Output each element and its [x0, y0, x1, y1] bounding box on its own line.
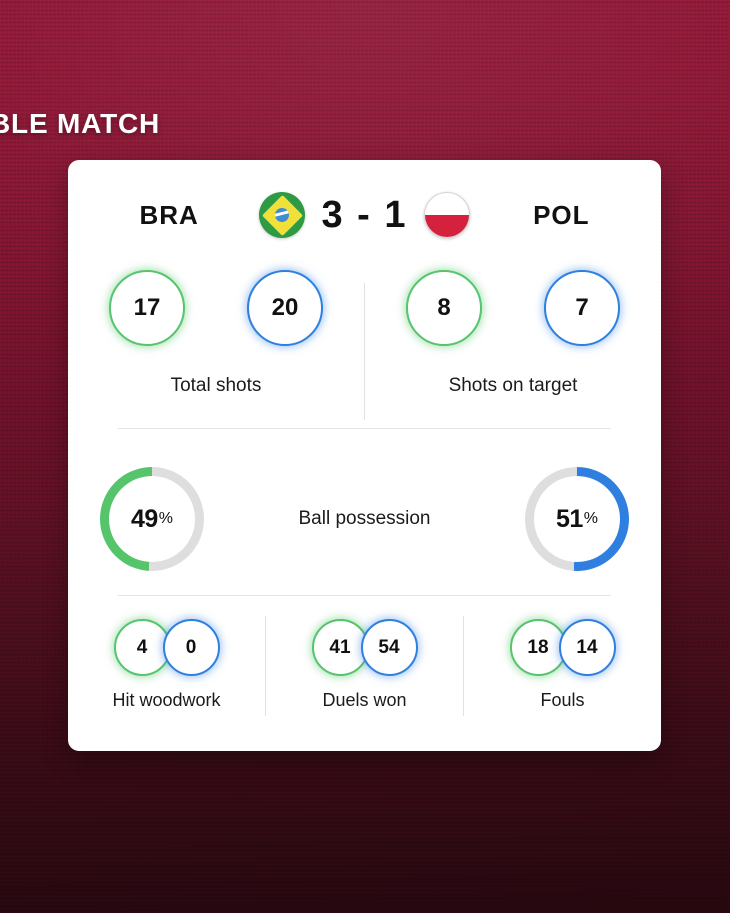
- total-shots-home-value: 17: [109, 270, 185, 346]
- total-shots-away-value: 20: [247, 270, 323, 346]
- possession-away-percent-sign: %: [584, 510, 598, 528]
- bottom-stats-row: 4 0 Hit woodwork 41 54 Duels won 18 14 F…: [68, 610, 661, 730]
- match-stats-card: BRA 3 - 1 POL 17 20 Total shots 8 7 Shot…: [68, 160, 661, 751]
- hit-woodwork-label: Hit woodwork: [112, 690, 220, 711]
- away-team-abbr: POL: [470, 200, 626, 231]
- possession-away-donut: 51 %: [525, 467, 629, 571]
- score-value: 3 - 1: [305, 194, 423, 237]
- hit-woodwork-circles: 4 0: [114, 619, 220, 676]
- shots-row: 17 20 Total shots 8 7 Shots on target: [68, 265, 661, 445]
- possession-label: Ball possession: [298, 508, 430, 530]
- possession-home-donut: 49 %: [100, 467, 204, 571]
- duels-won-circles: 41 54: [312, 619, 418, 676]
- card-divider-top: [118, 428, 611, 429]
- possession-row: 49 % Ball possession 51 %: [68, 445, 661, 593]
- poland-flag-icon: [424, 192, 470, 238]
- stat-group-shots-on-target: 8 7 Shots on target: [365, 265, 661, 445]
- scoreline: BRA 3 - 1 POL: [68, 182, 661, 248]
- home-team-abbr: BRA: [103, 200, 259, 231]
- total-shots-circles: 17 20: [109, 270, 323, 346]
- stat-group-duels-won: 41 54 Duels won: [266, 610, 463, 730]
- total-shots-label: Total shots: [171, 375, 262, 397]
- duels-won-away-value: 54: [361, 619, 418, 676]
- fouls-away-value: 14: [559, 619, 616, 676]
- possession-away-value: 51: [556, 505, 583, 534]
- fouls-circles: 18 14: [510, 619, 616, 676]
- page-headline: RABLE MATCH: [0, 108, 160, 140]
- possession-home-center: 49 %: [109, 476, 195, 562]
- fouls-label: Fouls: [540, 690, 584, 711]
- duels-won-home-value: 41: [312, 619, 369, 676]
- possession-home-value: 49: [131, 505, 158, 534]
- shots-on-target-away-value: 7: [544, 270, 620, 346]
- fouls-home-value: 18: [510, 619, 567, 676]
- poland-flag-red-half: [425, 215, 469, 237]
- possession-away-center: 51 %: [534, 476, 620, 562]
- brazil-flag-icon: [259, 192, 305, 238]
- card-divider-bottom: [118, 595, 611, 596]
- hit-woodwork-away-value: 0: [163, 619, 220, 676]
- stat-group-fouls: 18 14 Fouls: [464, 610, 661, 730]
- stat-group-hit-woodwork: 4 0 Hit woodwork: [68, 610, 265, 730]
- shots-on-target-circles: 8 7: [406, 270, 620, 346]
- duels-won-label: Duels won: [322, 690, 406, 711]
- possession-home-percent-sign: %: [159, 510, 173, 528]
- hit-woodwork-home-value: 4: [114, 619, 171, 676]
- shots-on-target-home-value: 8: [406, 270, 482, 346]
- shots-on-target-label: Shots on target: [449, 375, 578, 397]
- stat-group-total-shots: 17 20 Total shots: [68, 265, 364, 445]
